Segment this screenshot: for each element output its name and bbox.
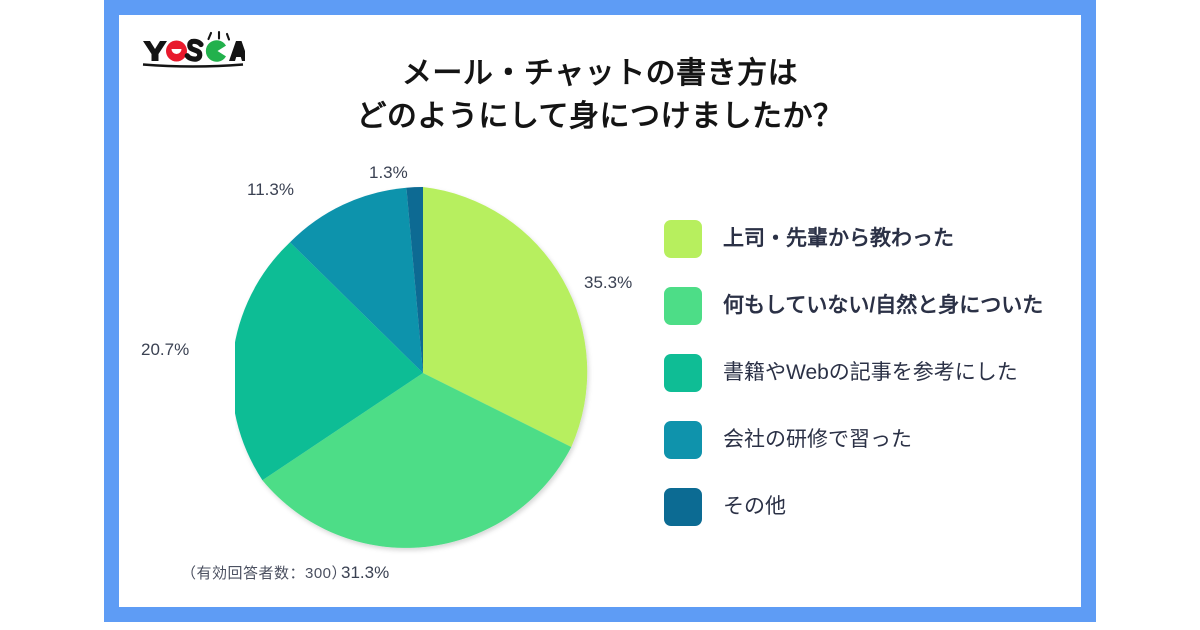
legend-swatch-icon	[664, 421, 702, 459]
pie-graphic	[235, 185, 611, 561]
legend-item-4[interactable]: その他	[664, 473, 1074, 540]
legend-item-label: 書籍やWebの記事を参考にした	[723, 360, 1018, 385]
chart-legend: 上司・先輩から教わった 何もしていない/自然と身についた 書籍やWebの記事を参…	[664, 205, 1074, 540]
slide-canvas: メール・チャットの書き方は どのようにして身につけましたか？	[0, 0, 1200, 630]
legend-swatch-icon	[664, 354, 702, 392]
legend-item-3[interactable]: 会社の研修で習った	[664, 406, 1074, 473]
legend-swatch-icon	[664, 220, 702, 258]
legend-item-label: 何もしていない/自然と身についた	[723, 293, 1043, 318]
legend-item-label: 上司・先輩から教わった	[723, 226, 954, 251]
legend-item-1[interactable]: 何もしていない/自然と身についた	[664, 272, 1074, 339]
pie-value-label-1: 31.3%	[341, 563, 389, 583]
legend-swatch-icon	[664, 488, 702, 526]
pie-value-label-3: 11.3%	[247, 180, 294, 200]
pie-value-label-0: 35.3%	[584, 273, 632, 293]
legend-item-0[interactable]: 上司・先輩から教わった	[664, 205, 1074, 272]
pie-slices	[235, 187, 587, 548]
respondent-count-note: （有効回答者数：300）	[181, 562, 347, 583]
page-title-line-1: メール・チャットの書き方は	[119, 53, 1081, 96]
pie-chart: 35.3% 31.3% 20.7% 11.3% 1.3%	[119, 125, 679, 595]
legend-item-label: 会社の研修で習った	[723, 427, 912, 452]
legend-item-2[interactable]: 書籍やWebの記事を参考にした	[664, 339, 1074, 406]
blue-border-frame: メール・チャットの書き方は どのようにして身につけましたか？	[104, 0, 1096, 622]
pie-value-label-4: 1.3%	[369, 163, 408, 183]
legend-swatch-icon	[664, 287, 702, 325]
pie-value-label-2: 20.7%	[141, 340, 189, 360]
content-panel: メール・チャットの書き方は どのようにして身につけましたか？	[119, 15, 1081, 607]
legend-item-label: その他	[723, 494, 786, 519]
